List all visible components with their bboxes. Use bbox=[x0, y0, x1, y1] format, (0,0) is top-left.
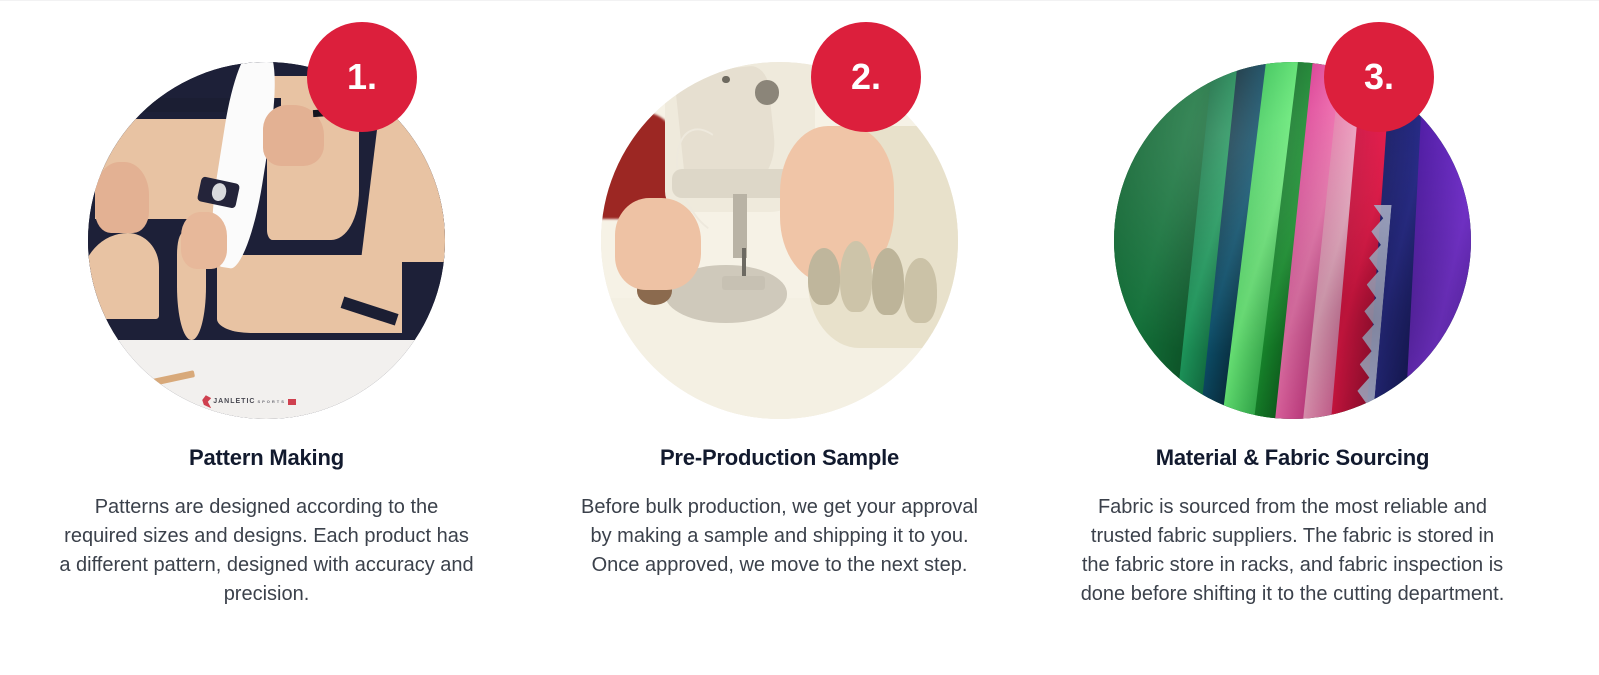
process-steps-section: JANLETIC SPORTS 1. Pattern Making Patter… bbox=[0, 0, 1599, 675]
step-description-1: Patterns are designed according to the r… bbox=[57, 493, 477, 609]
step-2-media: 2. bbox=[535, 0, 1024, 430]
janletic-sports-watermark: JANLETIC SPORTS bbox=[202, 395, 296, 408]
step-title-2: Pre-Production Sample bbox=[660, 445, 899, 471]
step-title-3: Material & Fabric Sourcing bbox=[1156, 445, 1430, 471]
step-description-3: Fabric is sourced from the most reliable… bbox=[1077, 493, 1509, 609]
step-card-2: 2. Pre-Production Sample Before bulk pro… bbox=[535, 0, 1024, 675]
step-description-2: Before bulk production, we get your appr… bbox=[580, 493, 980, 580]
step-number-badge-3: 3. bbox=[1324, 22, 1434, 132]
janletic-brand-text: JANLETIC bbox=[213, 398, 255, 405]
step-title-1: Pattern Making bbox=[189, 445, 344, 471]
janletic-logo-square bbox=[288, 399, 296, 405]
step-1-media: JANLETIC SPORTS 1. bbox=[22, 0, 511, 430]
step-card-3: 3. Material & Fabric Sourcing Fabric is … bbox=[1048, 0, 1537, 675]
step-card-1: JANLETIC SPORTS 1. Pattern Making Patter… bbox=[22, 0, 511, 675]
step-number-badge-2: 2. bbox=[811, 22, 921, 132]
janletic-sub-text: SPORTS bbox=[257, 399, 285, 404]
step-3-media: 3. bbox=[1048, 0, 1537, 430]
janletic-logo-mark bbox=[202, 395, 211, 408]
step-number-badge-1: 1. bbox=[307, 22, 417, 132]
